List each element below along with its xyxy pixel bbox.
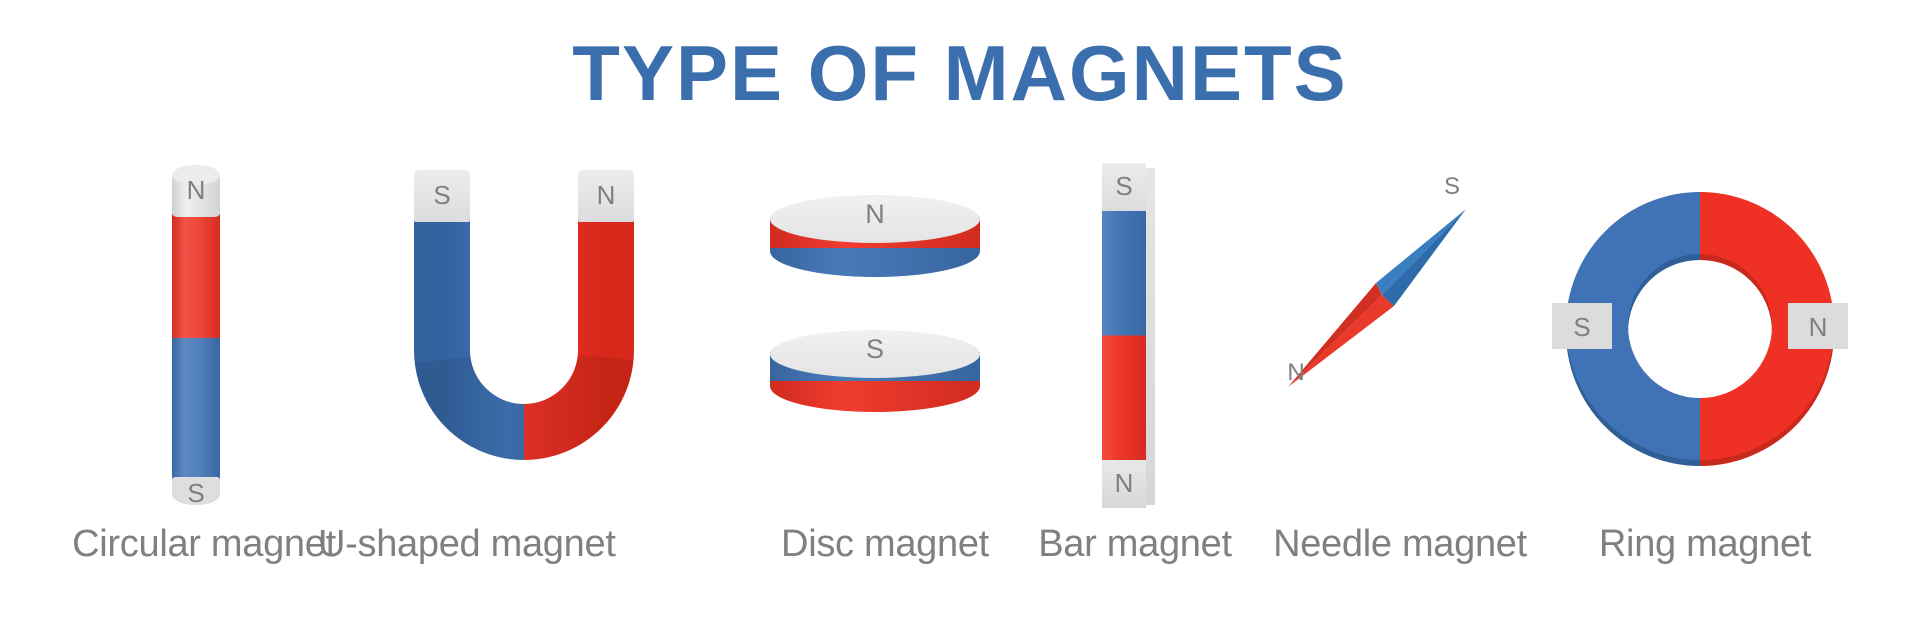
disc-magnet-north-label: N xyxy=(770,201,980,228)
needle-magnet-north-label: N xyxy=(1276,361,1316,385)
circular-magnet-south-label: S xyxy=(172,480,220,506)
bar-magnet-north-label: N xyxy=(1102,470,1146,496)
caption-disc-magnet: Disc magnet xyxy=(740,523,1030,566)
disc-magnet-figure: N S xyxy=(770,195,1000,470)
bar-magnet-south-label: S xyxy=(1102,173,1146,199)
u-shaped-magnet-figure: S N xyxy=(396,170,666,470)
circular-magnet-north-label: N xyxy=(172,177,220,203)
caption-circular-magnet: Circular magnet xyxy=(64,523,344,566)
bar-magnet-side-face xyxy=(1146,168,1155,505)
caption-bar-magnet: Bar magnet xyxy=(990,523,1280,566)
caption-needle-magnet: Needle magnet xyxy=(1250,523,1550,566)
ring-magnet-north-label: N xyxy=(1788,314,1848,340)
u-shaped-magnet-south-label: S xyxy=(414,182,470,208)
caption-ring-magnet: Ring magnet xyxy=(1545,523,1865,566)
u-shaped-magnet-north-label: N xyxy=(578,182,634,208)
circular-magnet-figure: N S xyxy=(164,165,244,505)
disc-magnet-lower: S xyxy=(770,330,980,426)
page-title: TYPE OF MAGNETS xyxy=(0,34,1920,112)
needle-magnet-south-label: S xyxy=(1432,175,1472,199)
ring-magnet-figure: S N xyxy=(1560,185,1860,475)
bar-magnet-body-shading xyxy=(1102,208,1146,463)
needle-magnet-figure: S N xyxy=(1270,175,1500,405)
bar-magnet-figure: S N xyxy=(1096,163,1166,508)
disc-magnet-upper: N xyxy=(770,195,980,291)
disc-magnet-south-label: S xyxy=(770,336,980,363)
cylinder-body xyxy=(172,183,220,493)
magnet-types-poster: TYPE OF MAGNETS N S Circular magnet xyxy=(0,0,1920,640)
ring-magnet-south-label: S xyxy=(1552,314,1612,340)
caption-u-shaped-magnet: U-shaped magnet xyxy=(318,523,598,566)
